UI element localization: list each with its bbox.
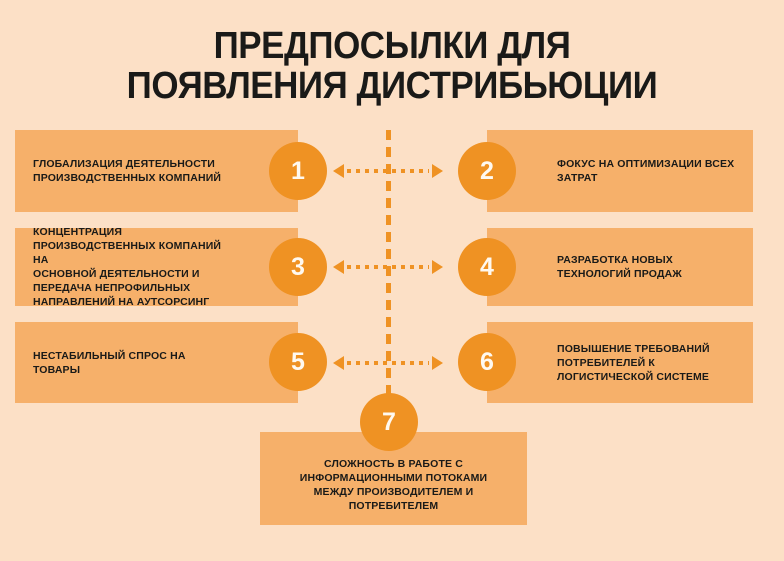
dotted-line	[347, 361, 429, 365]
item-number-circle-2: 2	[458, 142, 516, 200]
dotted-line	[347, 265, 429, 269]
item-box-4: РАЗРАБОТКА НОВЫХ ТЕХНОЛОГИЙ ПРОДАЖ	[487, 228, 753, 306]
dotted-line	[347, 169, 429, 173]
double-arrow-row-2	[333, 258, 443, 276]
arrow-left-icon	[333, 164, 344, 178]
item-box-1: ГЛОБАЛИЗАЦИЯ ДЕЯТЕЛЬНОСТИ ПРОИЗВОДСТВЕНН…	[15, 130, 298, 212]
item-number-circle-6: 6	[458, 333, 516, 391]
item-number-label-2: 2	[480, 159, 494, 184]
arrow-right-icon	[432, 260, 443, 274]
arrow-right-icon	[432, 164, 443, 178]
item-number-circle-3: 3	[269, 238, 327, 296]
item-box-3: КОНЦЕНТРАЦИЯ ПРОИЗВОДСТВЕННЫХ КОМПАНИЙ Н…	[15, 228, 298, 306]
item-text-1: ГЛОБАЛИЗАЦИЯ ДЕЯТЕЛЬНОСТИ ПРОИЗВОДСТВЕНН…	[15, 157, 291, 185]
item-number-circle-5: 5	[269, 333, 327, 391]
arrow-right-icon	[432, 356, 443, 370]
item-box-2: ФОКУС НА ОПТИМИЗАЦИИ ВСЕХ ЗАТРАТ	[487, 130, 753, 212]
item-text-2: ФОКУС НА ОПТИМИЗАЦИИ ВСЕХ ЗАТРАТ	[487, 157, 752, 185]
item-number-circle-4: 4	[458, 238, 516, 296]
item-box-5: НЕСТАБИЛЬНЫЙ СПРОС НА ТОВАРЫ	[15, 322, 298, 403]
item-text-3: КОНЦЕНТРАЦИЯ ПРОИЗВОДСТВЕННЫХ КОМПАНИЙ Н…	[15, 225, 298, 309]
item-text-5: НЕСТАБИЛЬНЫЙ СПРОС НА ТОВАРЫ	[15, 349, 256, 377]
item-number-label-6: 6	[480, 350, 494, 375]
item-text-4: РАЗРАБОТКА НОВЫХ ТЕХНОЛОГИЙ ПРОДАЖ	[487, 253, 700, 281]
item-number-label-3: 3	[291, 255, 305, 280]
arrow-left-icon	[333, 356, 344, 370]
item-number-label-4: 4	[480, 255, 494, 280]
item-number-label-1: 1	[291, 159, 305, 184]
item-number-circle-1: 1	[269, 142, 327, 200]
arrow-left-icon	[333, 260, 344, 274]
item-number-label-5: 5	[291, 350, 305, 375]
item-text-7: СЛОЖНОСТЬ В РАБОТЕ С ИНФОРМАЦИОННЫМИ ПОТ…	[282, 457, 505, 513]
item-box-6: ПОВЫШЕНИЕ ТРЕБОВАНИЙ ПОТРЕБИТЕЛЕЙ К ЛОГИ…	[487, 322, 753, 403]
page-title: ПРЕДПОСЫЛКИ ДЛЯ ПОЯВЛЕНИЯ ДИСТРИБЬЮЦИИ	[31, 26, 752, 106]
double-arrow-row-1	[333, 162, 443, 180]
double-arrow-row-3	[333, 354, 443, 372]
infographic-canvas: ПРЕДПОСЫЛКИ ДЛЯ ПОЯВЛЕНИЯ ДИСТРИБЬЮЦИИ Г…	[0, 0, 784, 561]
item-text-6: ПОВЫШЕНИЕ ТРЕБОВАНИЙ ПОТРЕБИТЕЛЕЙ К ЛОГИ…	[487, 342, 728, 384]
